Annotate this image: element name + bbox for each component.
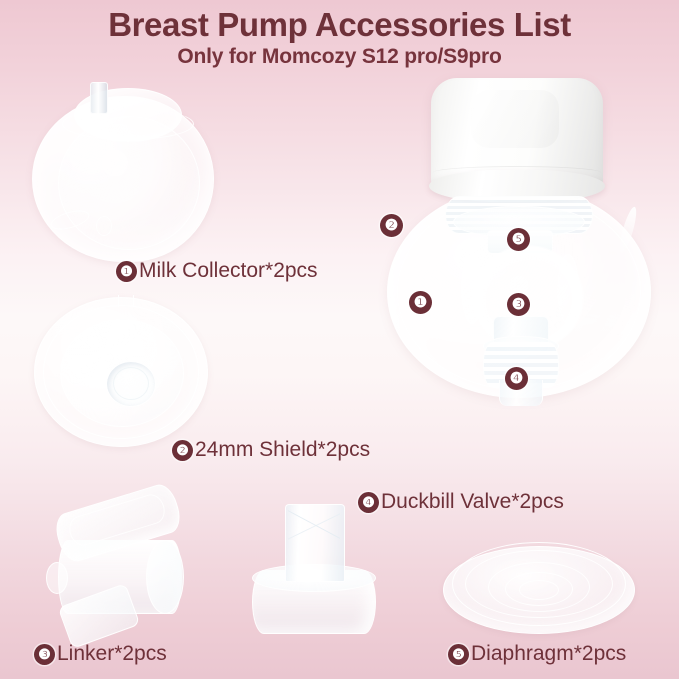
badge-5-icon: ❺ — [448, 644, 469, 665]
callout-3: ❸ — [507, 293, 530, 316]
callout-4: ❹ — [505, 367, 528, 390]
caption-diaphragm: ❺ Diaphragm*2pcs — [448, 642, 626, 666]
caption-milk-collector: ❶ Milk Collector*2pcs — [116, 259, 318, 283]
page-subtitle: Only for Momcozy S12 pro/S9pro — [0, 45, 679, 69]
shield-image — [34, 297, 206, 449]
milk-collector-image — [28, 82, 224, 262]
collector-lip-shape — [62, 108, 194, 140]
diaphragm-image — [443, 540, 635, 644]
linker-cap-shape — [146, 540, 184, 614]
shield-notch-shape — [118, 295, 134, 307]
badge-4-icon: ❹ — [358, 492, 379, 513]
duckbill-valve-image — [248, 498, 378, 640]
caption-duckbill-valve-label: Duckbill Valve*2pcs — [381, 490, 564, 514]
page-title: Breast Pump Accessories List — [0, 6, 679, 44]
assembly-cap-dimple-shape — [471, 90, 559, 148]
caption-linker: ❸ Linker*2pcs — [34, 642, 167, 666]
badge-1-icon: ❶ — [116, 261, 137, 282]
callout-2: ❷ — [380, 214, 403, 237]
caption-duckbill-valve: ❹ Duckbill Valve*2pcs — [358, 490, 564, 514]
callout-1: ❶ — [409, 291, 432, 314]
caption-shield: ❷ 24mm Shield*2pcs — [172, 438, 370, 462]
caption-shield-label: 24mm Shield*2pcs — [195, 438, 370, 462]
assembly-cap-seam-shape — [433, 166, 601, 179]
shield-tunnel-inner-shape — [113, 367, 149, 400]
product-infographic: Breast Pump Accessories List Only for Mo… — [0, 0, 679, 679]
callout-5: ❺ — [507, 228, 530, 251]
caption-diaphragm-label: Diaphragm*2pcs — [471, 642, 626, 666]
badge-2-icon: ❷ — [172, 440, 193, 461]
linker-image — [38, 492, 206, 640]
diaphragm-center-shape — [519, 580, 559, 600]
caption-linker-label: Linker*2pcs — [57, 642, 167, 666]
collector-highlight-shape-2 — [96, 216, 112, 236]
caption-milk-collector-label: Milk Collector*2pcs — [139, 259, 318, 283]
badge-3-icon: ❸ — [34, 644, 55, 665]
linker-side-port-shape — [46, 562, 68, 594]
collector-spout-shape — [90, 82, 108, 114]
